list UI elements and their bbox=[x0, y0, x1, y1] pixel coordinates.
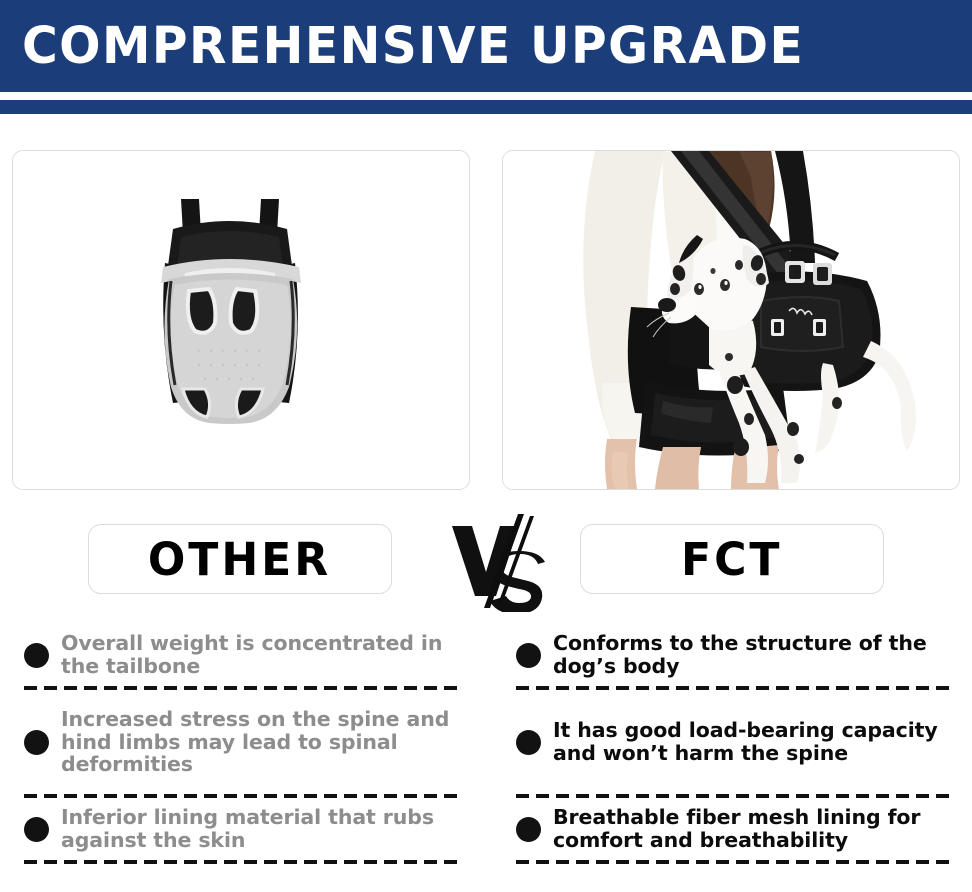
brand-box-fct: FCT bbox=[580, 524, 884, 594]
list-item: Overall weight is concentrated in the ta… bbox=[24, 624, 462, 686]
brand-box-other: OTHER bbox=[88, 524, 392, 594]
list-item-label: It has good load-bearing capacity and wo… bbox=[553, 719, 954, 765]
brand-label-fct: FCT bbox=[681, 537, 782, 582]
list-divider bbox=[516, 860, 954, 864]
header-banner: COMPREHENSIVE UPGRADE bbox=[0, 0, 972, 92]
brand-comparison-row: OTHER FCT bbox=[0, 524, 972, 602]
feature-list-fct: Conforms to the structure of the dog’s b… bbox=[516, 624, 954, 864]
list-item: Inferior lining material that rubs again… bbox=[24, 798, 462, 860]
bullet-dot-icon bbox=[516, 643, 541, 668]
product-image-row bbox=[0, 150, 972, 495]
fct-product-photo bbox=[503, 151, 959, 489]
list-item: Increased stress on the spine and hind l… bbox=[24, 690, 462, 794]
list-item-label: Inferior lining material that rubs again… bbox=[61, 806, 462, 852]
list-item: Breathable fiber mesh lining for comfort… bbox=[516, 798, 954, 860]
header-accent-rule bbox=[0, 100, 972, 114]
feature-list-other: Overall weight is concentrated in the ta… bbox=[24, 624, 462, 864]
list-item-label: Overall weight is concentrated in the ta… bbox=[61, 632, 462, 678]
list-divider bbox=[24, 860, 462, 864]
list-item-label: Breathable fiber mesh lining for comfort… bbox=[553, 806, 954, 852]
bullet-dot-icon bbox=[516, 817, 541, 842]
list-item-label: Increased stress on the spine and hind l… bbox=[61, 708, 462, 776]
vs-icon-graphic bbox=[446, 512, 554, 612]
comparison-infographic: COMPREHENSIVE UPGRADE bbox=[0, 0, 972, 892]
brand-label-other: OTHER bbox=[148, 537, 331, 582]
list-item-label: Conforms to the structure of the dog’s b… bbox=[553, 632, 954, 678]
feature-comparison-lists: Overall weight is concentrated in the ta… bbox=[0, 624, 972, 892]
other-carrier-illustration bbox=[13, 151, 469, 489]
panel-other-product bbox=[12, 150, 470, 490]
bullet-dot-icon bbox=[24, 817, 49, 842]
fct-carrier-illustration bbox=[503, 151, 959, 489]
bullet-dot-icon bbox=[24, 643, 49, 668]
bullet-dot-icon bbox=[516, 730, 541, 755]
list-item: It has good load-bearing capacity and wo… bbox=[516, 690, 954, 794]
list-item: Conforms to the structure of the dog’s b… bbox=[516, 624, 954, 686]
panel-fct-product bbox=[502, 150, 960, 490]
other-product-photo bbox=[13, 151, 469, 489]
bullet-dot-icon bbox=[24, 730, 49, 755]
page-title: COMPREHENSIVE UPGRADE bbox=[22, 21, 804, 72]
vs-slash-icon bbox=[446, 512, 554, 612]
